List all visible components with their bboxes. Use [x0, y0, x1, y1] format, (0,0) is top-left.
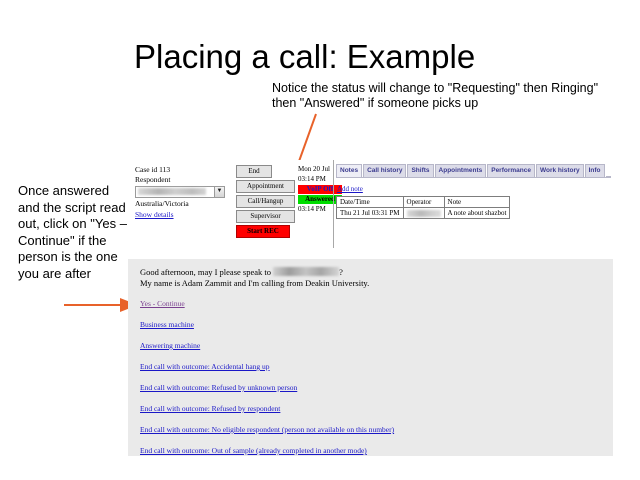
app-header-panel: Case id 113 Respondent ▼ Australia/Victo…	[128, 160, 613, 249]
supervisor-button[interactable]: Supervisor	[236, 210, 295, 223]
note-operator	[403, 208, 444, 219]
tab-shifts[interactable]: Shifts	[407, 164, 433, 177]
script-link-5[interactable]: End call with outcome: Refused by respon…	[140, 404, 394, 414]
panel-divider	[333, 160, 334, 248]
notes-table-body: Thu 21 Jul 03:31 PMA note about shazbot	[337, 208, 510, 219]
respondent-label: Respondent	[135, 175, 231, 185]
script-line-2: My name is Adam Zammit and I'm calling f…	[140, 278, 369, 289]
timezone-label: Australia/Victoria	[135, 199, 231, 209]
script-link-3[interactable]: End call with outcome: Accidental hang u…	[140, 362, 394, 372]
appointment-button[interactable]: Appointment	[236, 180, 295, 193]
tabs-panel: NotesCall historyShiftsAppointmentsPerfo…	[336, 164, 611, 219]
case-id-label: Case id 113	[135, 165, 231, 175]
end-button[interactable]: End	[236, 165, 272, 178]
respondent-select[interactable]: ▼	[135, 186, 225, 198]
script-line-1-after: ?	[339, 267, 343, 277]
chevron-down-icon[interactable]: ▼	[214, 187, 224, 197]
script-line-1: Good afternoon, may I please speak to ?	[140, 267, 369, 278]
note-datetime: Thu 21 Jul 03:31 PM	[337, 208, 404, 219]
tab-performance[interactable]: Performance	[487, 164, 535, 177]
notes-table: Date/TimeOperatorNote Thu 21 Jul 03:31 P…	[336, 196, 510, 219]
call-controls-column: End Appointment Call/Hangup Supervisor S…	[236, 165, 293, 240]
callout-status-annotation: Notice the status will change to "Reques…	[272, 81, 612, 111]
tab-notes[interactable]: Notes	[336, 164, 362, 177]
tab-info[interactable]: Info	[585, 164, 605, 177]
add-note-link[interactable]: Add note	[337, 185, 363, 193]
tab-appointments[interactable]: Appointments	[435, 164, 487, 177]
script-greeting: Good afternoon, may I please speak to ? …	[140, 267, 369, 289]
notes-col-note: Note	[444, 197, 510, 208]
tab-strip: NotesCall historyShiftsAppointmentsPerfo…	[336, 164, 611, 178]
script-link-2[interactable]: Answering machine	[140, 341, 394, 351]
start-recording-button[interactable]: Start REC	[236, 225, 290, 238]
script-link-0[interactable]: Yes - Continue	[140, 299, 394, 309]
show-details-link[interactable]: Show details	[135, 210, 174, 220]
script-line-1-before: Good afternoon, may I please speak to	[140, 267, 273, 277]
notes-table-header-row: Date/TimeOperatorNote	[337, 197, 510, 208]
script-panel: Good afternoon, may I please speak to ? …	[128, 258, 613, 456]
call-hangup-button[interactable]: Call/Hangup	[236, 195, 295, 208]
case-info-column: Case id 113 Respondent ▼ Australia/Victo…	[135, 165, 231, 220]
page-title: Placing a call: Example	[134, 38, 594, 76]
tab-work-history[interactable]: Work history	[536, 164, 584, 177]
operator-redacted	[407, 210, 441, 217]
callout-yes-continue-annotation: Once answered and the script read out, c…	[18, 183, 130, 282]
script-outcome-links: Yes - ContinueBusiness machineAnswering …	[140, 299, 394, 467]
script-link-1[interactable]: Business machine	[140, 320, 394, 330]
respondent-redacted-value	[138, 188, 206, 195]
notes-col-date-time: Date/Time	[337, 197, 404, 208]
tab-call-history[interactable]: Call history	[363, 164, 406, 177]
note-text: A note about shazbot	[444, 208, 510, 219]
respondent-name-redacted	[273, 267, 339, 276]
script-link-6[interactable]: End call with outcome: No eligible respo…	[140, 425, 394, 435]
app-screenshot: Case id 113 Respondent ▼ Australia/Victo…	[128, 160, 613, 455]
tab-strip-filler	[606, 164, 611, 177]
notes-col-operator: Operator	[403, 197, 444, 208]
script-link-7[interactable]: End call with outcome: Out of sample (al…	[140, 446, 394, 456]
table-row: Thu 21 Jul 03:31 PMA note about shazbot	[337, 208, 510, 219]
script-link-4[interactable]: End call with outcome: Refused by unknow…	[140, 383, 394, 393]
